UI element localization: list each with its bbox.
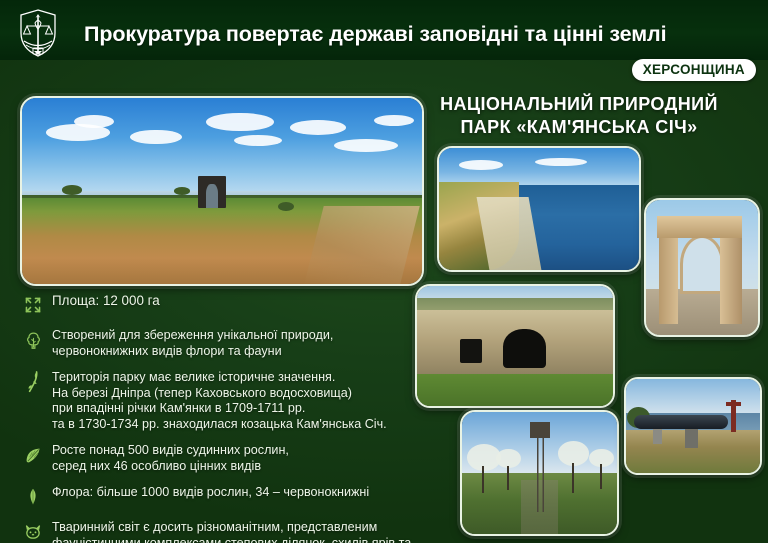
region-badge: ХЕРСОНЩИНА [632, 59, 756, 81]
header-bar: Прокуратура повертає державі заповідні т… [0, 0, 768, 60]
fact-item-history: Територія парку має велике історичне зна… [18, 369, 448, 433]
park-name-heading: НАЦІОНАЛЬНИЙ ПРИРОДНИЙ ПАРК «КАМ'ЯНСЬКА … [404, 93, 754, 139]
photo-stone-arch-monument [644, 198, 760, 337]
leaf-icon [18, 442, 48, 468]
fact-text: Флора: більше 1000 видів рослин, 34 – че… [52, 484, 369, 501]
fact-item-fauna: Тваринний світ є досить різноманітним, п… [18, 519, 448, 543]
page-title: Прокуратура повертає державі заповідні т… [84, 22, 754, 47]
animal-face-icon [18, 519, 48, 543]
fact-item-purpose: Створений для збереження унікальної прир… [18, 327, 448, 360]
photo-watchtower-blooming-trees [460, 410, 619, 536]
area-expand-icon [18, 292, 48, 318]
facts-list: Площа: 12 000 га Створений для збереженн… [18, 292, 448, 543]
fact-text: Територія парку має велике історичне зна… [52, 369, 387, 433]
fact-text: Тваринний світ є досить різноманітним, п… [52, 519, 448, 543]
fact-item-flora: Флора: більше 1000 видів рослин, 34 – че… [18, 484, 448, 510]
reed-branch-icon [18, 369, 48, 395]
fact-text: Створений для збереження унікальної прир… [52, 327, 333, 360]
photo-old-cannon-shore [624, 377, 762, 475]
photo-coastal-cliff-water [437, 146, 641, 272]
prosecutor-office-emblem [14, 7, 62, 59]
fact-text: Площа: 12 000 га [52, 292, 160, 310]
park-name-line-2: ПАРК «КАМ'ЯНСЬКА СІЧ» [404, 116, 754, 139]
infographic-poster: Прокуратура повертає державі заповідні т… [0, 0, 768, 543]
fact-text: Росте понад 500 видів судинних рослин, с… [52, 442, 289, 475]
park-name-line-1: НАЦІОНАЛЬНИЙ ПРИРОДНИЙ [404, 93, 754, 116]
fact-item-area: Площа: 12 000 га [18, 292, 448, 318]
fact-item-vascular-plants: Росте понад 500 видів судинних рослин, с… [18, 442, 448, 475]
sprig-icon [18, 484, 48, 510]
photo-panorama-steppe-gate [20, 96, 424, 286]
tree-icon [18, 327, 48, 353]
